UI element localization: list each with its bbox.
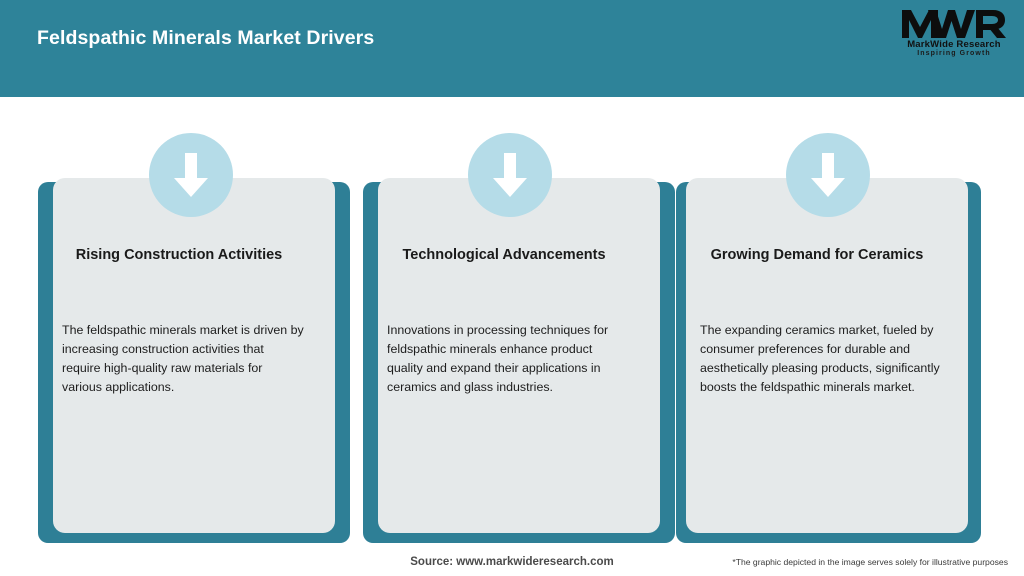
- arrow-down-icon: [786, 133, 870, 217]
- arrow-down-icon: [468, 133, 552, 217]
- card-description: The feldspathic minerals market is drive…: [62, 321, 304, 396]
- card-title: Technological Advancements: [387, 245, 621, 267]
- driver-cards-group: Rising Construction Activities The felds…: [0, 0, 1024, 576]
- card-title: Growing Demand for Ceramics: [700, 245, 934, 267]
- disclaimer-note: *The graphic depicted in the image serve…: [732, 557, 1008, 567]
- arrow-down-icon: [149, 133, 233, 217]
- card-title: Rising Construction Activities: [62, 245, 296, 267]
- card-description: Innovations in processing techniques for…: [387, 321, 629, 396]
- card-description: The expanding ceramics market, fueled by…: [700, 321, 948, 396]
- slide-canvas: Feldspathic Minerals Market Drivers Mark…: [0, 0, 1024, 576]
